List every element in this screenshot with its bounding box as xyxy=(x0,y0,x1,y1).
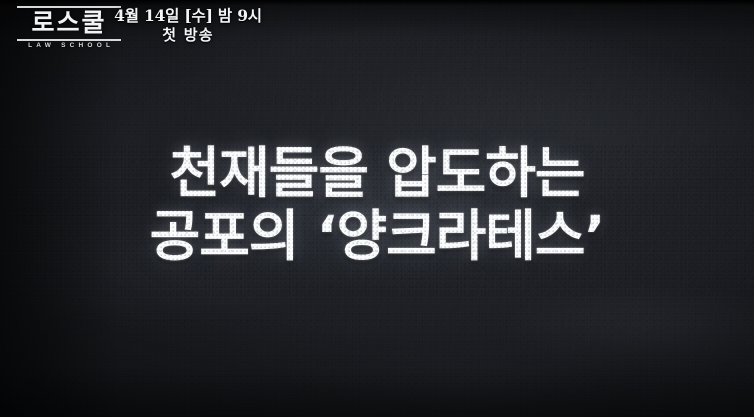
logo-hangul-text: 로스쿨 xyxy=(17,9,121,38)
logo-bottom-rule xyxy=(17,39,121,41)
broadcast-premiere-label: 첫 방송 xyxy=(112,27,264,45)
main-title: 천재들을 압도하는 공포의 ‘양크라테스’ xyxy=(0,146,754,264)
logo-subtitle-text: LAW SCHOOL xyxy=(17,43,121,50)
logo-top-rule xyxy=(17,6,121,8)
broadcast-info: 4월 14일 [수] 밤 9시 첫 방송 xyxy=(112,7,264,45)
show-logo: 로스쿨 LAW SCHOOL xyxy=(17,6,121,49)
broadcast-datetime: 4월 14일 [수] 밤 9시 xyxy=(112,7,264,25)
main-title-line-2: 공포의 ‘양크라테스’ xyxy=(0,209,754,264)
top-edge-band xyxy=(0,0,754,5)
title-card: 로스쿨 LAW SCHOOL 4월 14일 [수] 밤 9시 첫 방송 천재들을… xyxy=(0,0,754,417)
main-title-line-1: 천재들을 압도하는 xyxy=(0,146,754,201)
